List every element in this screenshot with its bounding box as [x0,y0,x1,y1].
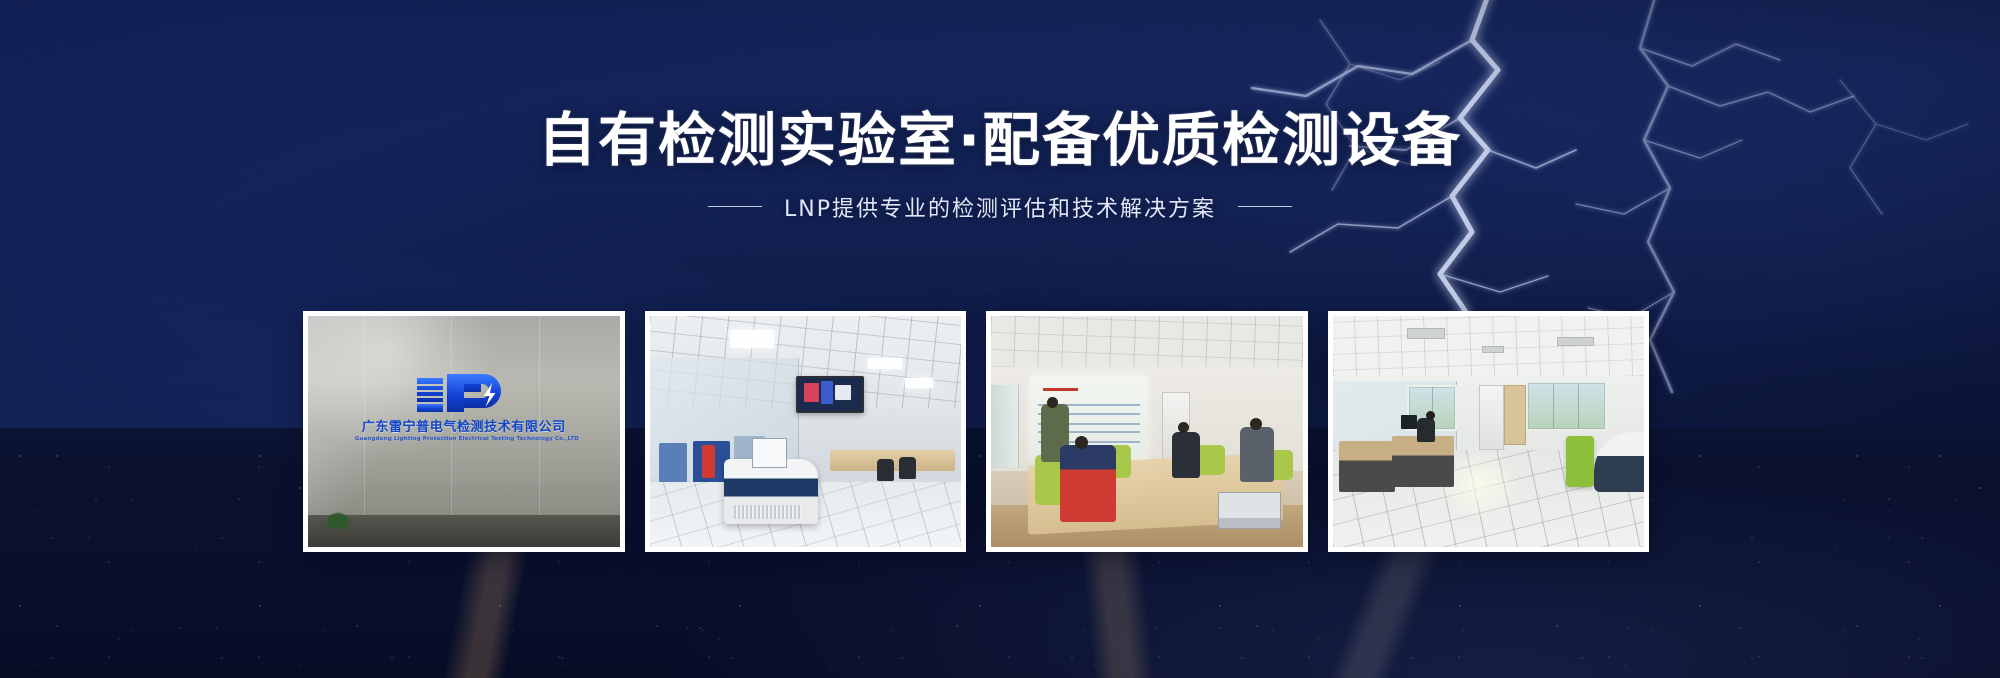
office-worker [1417,418,1435,442]
company-name-en: Guangdong Lighting Protection Electrical… [355,437,573,443]
storage-cabinet [1479,385,1504,450]
photo-testing-lab [650,316,962,547]
test-equipment [659,443,687,485]
attendee [1172,432,1200,478]
plant [327,513,349,529]
ceiling-light [905,378,933,387]
slide-title [1043,388,1078,391]
attendee-head [1250,418,1262,430]
photo-company-sign: 广东雷宁普电气检测技术有限公司 Guangdong Lighting Prote… [308,316,620,547]
ceiling-vent [1407,328,1444,340]
glass-door [991,385,1019,468]
bookshelf [1504,385,1526,445]
photo-card-office-area[interactable] [1328,311,1650,552]
ceiling-vent [1482,346,1504,353]
photo-card-testing-lab[interactable] [645,311,967,552]
hero-banner: 自有检测实验室·配备优质检测设备 LNP提供专业的检测评估和技术解决方案 [0,0,2000,678]
company-logo-block: 广东雷宁普电气检测技术有限公司 Guangdong Lighting Prote… [355,371,573,443]
chair [1197,445,1225,475]
chair [899,457,916,479]
ceiling [991,316,1303,367]
page-title: 自有检测实验室·配备优质检测设备 [0,108,2000,173]
photo-card-row: 广东雷宁普电气检测技术有限公司 Guangdong Lighting Prote… [303,311,1649,552]
presenter-head [1047,397,1058,408]
headline-block: 自有检测实验室·配备优质检测设备 LNP提供专业的检测评估和技术解决方案 [0,0,2000,223]
attendee [1240,427,1274,482]
laptop [1218,492,1280,529]
office-desk [1392,436,1454,487]
ceiling-vent [1557,337,1594,346]
attendee [1060,445,1116,521]
photo-card-company-sign[interactable]: 广东雷宁普电气检测技术有限公司 Guangdong Lighting Prote… [303,311,625,552]
rule-left-icon [708,206,762,207]
lnp-logo-icon [412,371,516,415]
company-name-cn: 广东雷宁普电气检测技术有限公司 [355,421,573,434]
office-worker-head [1426,411,1435,420]
ceiling-light [868,358,902,370]
desk-monitor [1401,415,1417,429]
wall-monitor [796,376,865,413]
ceiling-light [730,330,774,348]
test-equipment [702,445,714,477]
visitor-chair [1566,436,1594,487]
page-subtitle: LNP提供专业的检测评估和技术解决方案 [784,191,1216,223]
photo-meeting-room [991,316,1303,547]
desk-vents [734,505,803,519]
office-desk [1339,441,1395,492]
photo-office-area [1333,316,1645,547]
window [1526,381,1607,432]
subtitle-row: LNP提供专业的检测评估和技术解决方案 [0,191,2000,223]
desk-monitor [752,438,786,468]
chair [877,459,894,481]
rule-right-icon [1238,206,1292,207]
floor [308,515,620,547]
photo-card-meeting-room[interactable] [986,311,1308,552]
